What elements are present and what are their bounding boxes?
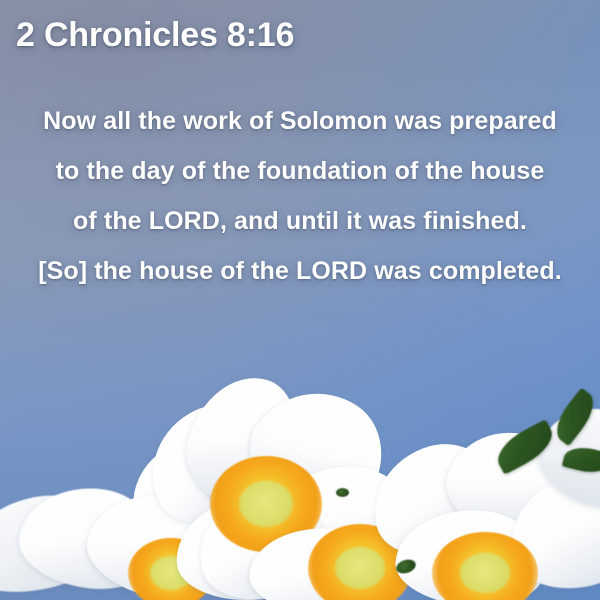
verse-reference-title: 2 Chronicles 8:16 [16, 16, 294, 55]
verse-text-block: Now all the work of Solomon was prepared… [0, 96, 600, 296]
verse-line: Now all the work of Solomon was prepared [0, 96, 600, 146]
flower-cluster [0, 370, 600, 600]
verse-line: of the LORD, and until it was finished. [0, 196, 600, 246]
verse-line: to the day of the foundation of the hous… [0, 146, 600, 196]
verse-image-card: 2 Chronicles 8:16 Now all the work of So… [0, 0, 600, 600]
flower-bud [336, 488, 349, 497]
verse-line: [So] the house of the LORD was completed… [0, 246, 600, 296]
